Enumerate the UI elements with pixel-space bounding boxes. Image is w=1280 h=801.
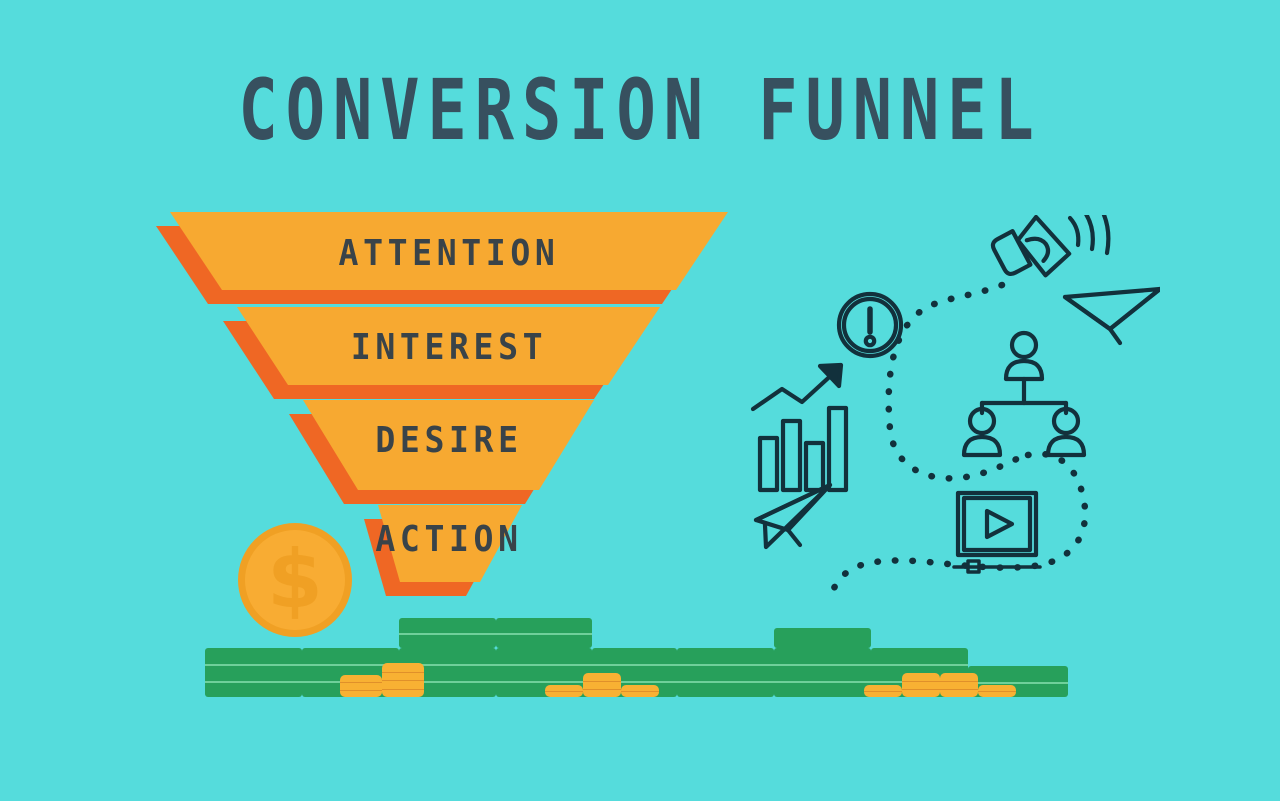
bill-separator (774, 681, 871, 683)
coin-stack (545, 685, 583, 697)
bill-separator (774, 664, 871, 666)
bill-separator (496, 681, 592, 683)
coin-separator (902, 689, 940, 690)
bill-separator (677, 681, 774, 683)
dollar-coin-icon: $ (238, 523, 352, 637)
bill-separator (496, 633, 592, 635)
coin-separator (382, 672, 424, 673)
exclamation-circle-icon (839, 294, 901, 356)
bill-separator (496, 664, 592, 666)
bill-stack (774, 648, 871, 697)
marketing-channel-icons (740, 215, 1160, 595)
coin-stack (902, 673, 940, 697)
dollar-sign: $ (238, 523, 352, 637)
paper-plane-icon (756, 485, 830, 547)
coin-separator (583, 689, 621, 690)
bill-separator (968, 682, 1068, 684)
coin-stack (382, 663, 424, 697)
coin-separator (978, 691, 1016, 692)
coin-separator (382, 689, 424, 690)
bill-separator (205, 681, 302, 683)
bill-stack (496, 618, 592, 648)
coin-separator (902, 681, 940, 682)
bar-chart-growth-icon (753, 365, 846, 490)
coin-separator (583, 681, 621, 682)
paper-plane-icon (1065, 289, 1160, 343)
bill-stack (399, 618, 496, 648)
conversion-funnel-infographic: CONVERSION FUNNEL ATTENTIONINTERESTDESIR… (0, 0, 1280, 801)
bill-separator (399, 633, 496, 635)
coin-stack (940, 673, 978, 697)
coin-stack (621, 685, 659, 697)
coin-separator (382, 680, 424, 681)
bill-separator (677, 664, 774, 666)
coin-stack (583, 673, 621, 697)
coin-separator (940, 681, 978, 682)
coin-separator (340, 690, 382, 691)
people-network-icon (964, 333, 1084, 455)
coin-separator (940, 689, 978, 690)
coin-separator (621, 691, 659, 692)
bill-separator (592, 664, 677, 666)
icon-strokes (753, 215, 1160, 572)
coin-stack (864, 685, 902, 697)
coin-separator (545, 691, 583, 692)
coin-stack (978, 685, 1016, 697)
video-player-icon (954, 493, 1040, 572)
megaphone-icon (990, 215, 1108, 279)
bill-stack (205, 648, 302, 697)
coin-separator (864, 691, 902, 692)
bill-stack (677, 648, 774, 697)
bill-separator (205, 664, 302, 666)
bill-separator (871, 664, 968, 666)
bill-stack (774, 628, 871, 648)
coin-separator (340, 682, 382, 683)
coin-stack (340, 675, 382, 697)
